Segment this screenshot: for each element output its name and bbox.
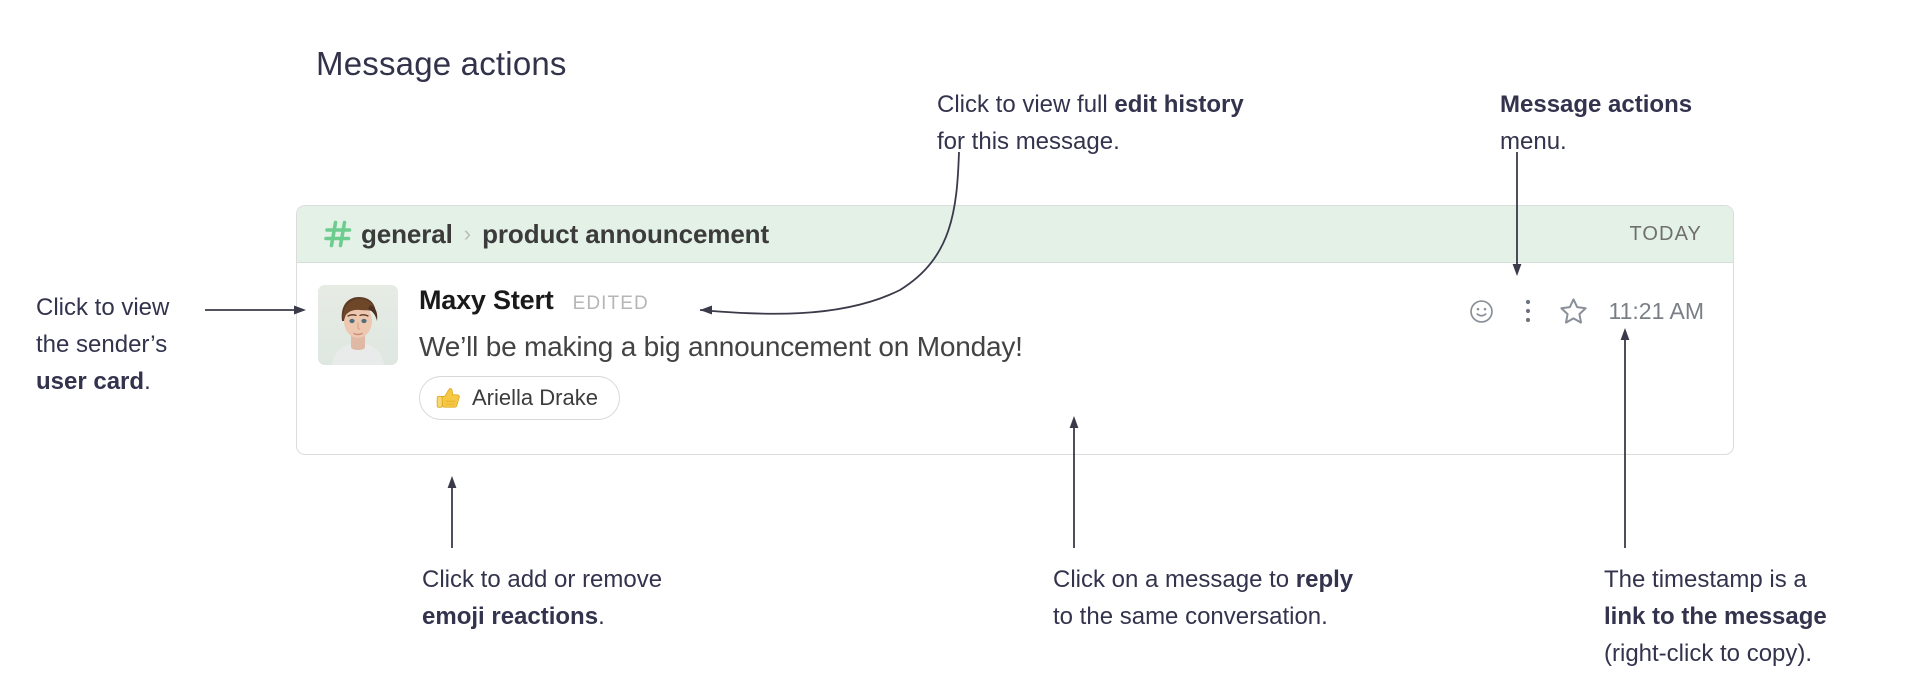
annotation-strong: user card	[36, 368, 144, 395]
annotation-actions-menu: Message actions menu.	[1500, 86, 1800, 160]
annotation-tail: .	[144, 368, 151, 395]
reaction-user-name: Ariella Drake	[472, 385, 598, 411]
smiley-face-icon[interactable]	[1459, 291, 1505, 331]
breadcrumb-topic[interactable]: product announcement	[482, 219, 769, 250]
message-text[interactable]: We’ll be making a big announcement on Mo…	[419, 331, 1703, 363]
breadcrumb-channel[interactable]: general	[361, 219, 453, 250]
annotation-lead: Click to add or remove	[422, 566, 662, 593]
thumbs-up-icon	[434, 384, 462, 412]
channel-header: general › product announcement TODAY	[297, 206, 1733, 263]
annotation-emoji-reactions: Click to add or remove emoji reactions.	[422, 561, 782, 635]
message-actions-toolbar: 11:21 AM	[1459, 291, 1704, 331]
header-date-label: TODAY	[1629, 223, 1702, 246]
reaction-pill[interactable]: Ariella Drake	[419, 376, 620, 420]
annotation-tail: menu.	[1500, 128, 1567, 155]
avatar[interactable]	[318, 285, 398, 365]
breadcrumb-separator-icon: ›	[464, 221, 471, 247]
annotation-strong: reply	[1296, 566, 1353, 593]
annotation-strong: link to the message	[1604, 603, 1827, 630]
vertical-ellipsis-icon[interactable]	[1505, 291, 1551, 331]
annotation-tail: for this message.	[937, 128, 1120, 155]
annotation-strong: edit history	[1114, 91, 1243, 118]
annotation-tail: .	[598, 603, 605, 630]
annotation-lead: The timestamp is a	[1604, 566, 1807, 593]
annotation-tail: to the same conversation.	[1053, 603, 1328, 630]
annotation-tail: (right-click to copy).	[1604, 640, 1812, 667]
annotation-lead: Click to view the sender’s	[36, 294, 169, 358]
message-row[interactable]: Maxy Stert EDITED We’ll be making a big …	[297, 263, 1733, 455]
sender-name[interactable]: Maxy Stert	[419, 285, 554, 316]
hash-icon	[324, 219, 352, 249]
arrowhead-emoji-reactions	[448, 476, 457, 488]
annotation-lead: Click to view full	[937, 91, 1114, 118]
annotation-lead: Click on a message to	[1053, 566, 1296, 593]
annotation-timestamp: The timestamp is a link to the message (…	[1604, 561, 1924, 672]
message-timestamp-link[interactable]: 11:21 AM	[1609, 298, 1704, 325]
annotation-reply: Click on a message to reply to the same …	[1053, 561, 1453, 635]
star-outline-icon[interactable]	[1551, 291, 1597, 331]
page-title: Message actions	[316, 45, 567, 83]
annotation-strong: emoji reactions	[422, 603, 598, 630]
annotation-user-card: Click to view the sender’s user card.	[36, 289, 266, 400]
message-card: general › product announcement TODAY	[296, 205, 1734, 455]
annotation-edit-history: Click to view full edit history for this…	[937, 86, 1367, 160]
edited-badge[interactable]: EDITED	[573, 293, 649, 315]
annotation-strong: Message actions	[1500, 91, 1692, 118]
